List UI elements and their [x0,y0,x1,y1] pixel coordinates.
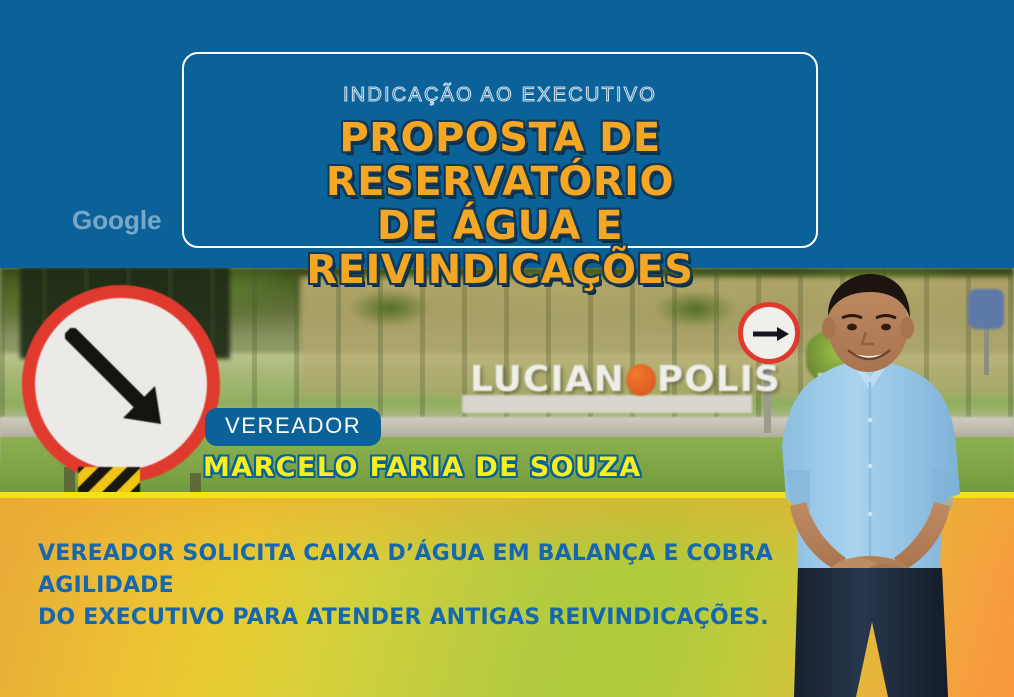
status-badge: VEREADOR [205,408,381,446]
map-watermark: Google [72,205,162,236]
diagonal-arrow-icon [65,328,175,438]
title-card: INDICAÇÃO AO EXECUTIVO PROPOSTA DE RESER… [182,52,818,248]
header-kicker: INDICAÇÃO AO EXECUTIVO [184,84,816,107]
person-name: MARCELO FARIA DE SOUZA [203,452,642,483]
poster-canvas: INDICAÇÃO AO EXECUTIVO PROPOSTA DE RESER… [0,0,1014,697]
orange-fruit-icon [626,364,656,396]
city-monument-sign: LUCIANPOLIS [470,359,781,400]
councilman-photo [770,270,1014,697]
hazard-stripe-marker [78,467,140,495]
monument-text-right: POLIS [657,359,781,400]
page-title: PROPOSTA DE RESERVATÓRIO DE ÁGUA E REIVI… [184,116,816,292]
footer-caption: VEREADOR SOLICITA CAIXA D’ÁGUA EM BALANÇ… [38,538,818,634]
no-entry-diagonal-arrow-sign [22,285,220,483]
monument-text-left: LUCIAN [470,359,625,400]
